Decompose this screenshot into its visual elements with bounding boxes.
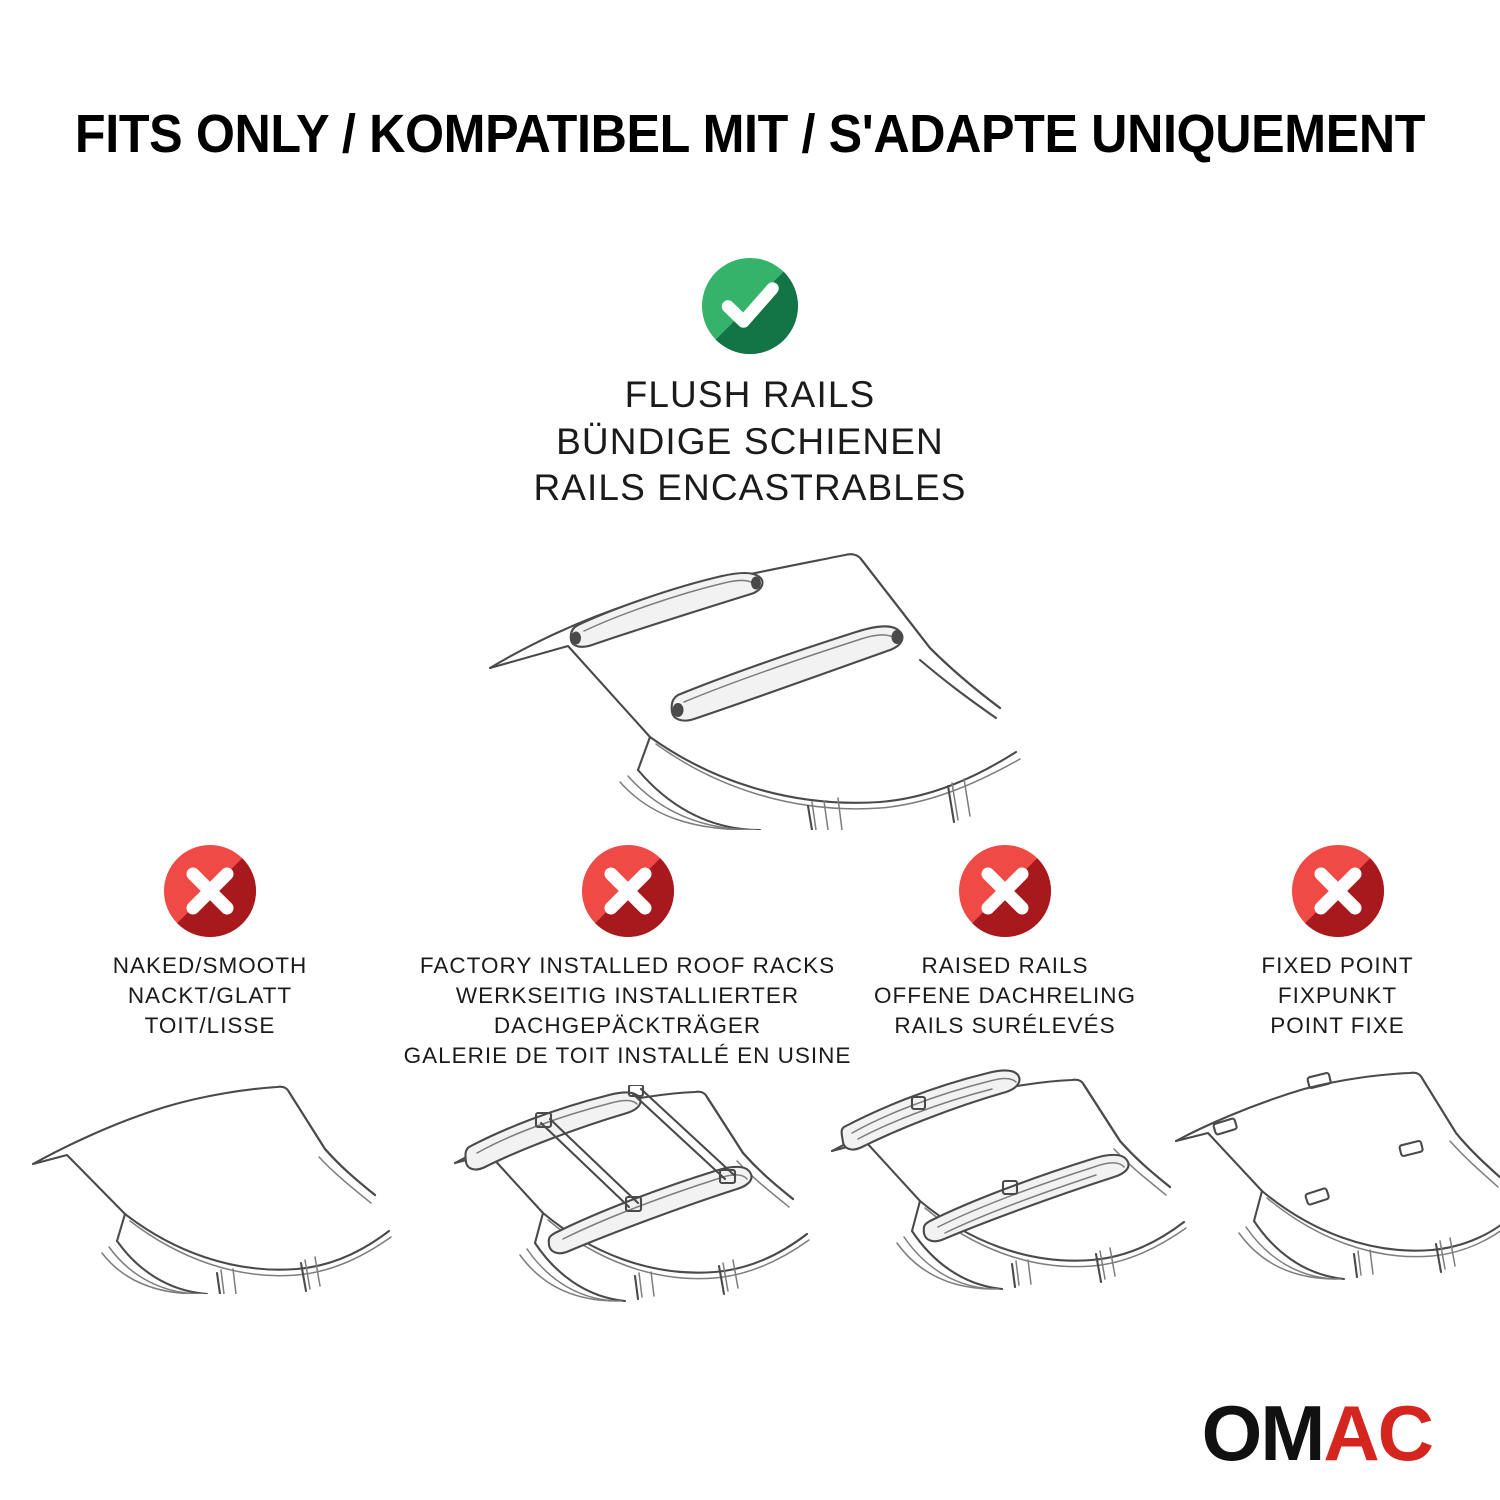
logo-text-dark: OM <box>1202 1394 1324 1472</box>
label-de: OFFENE DACHRELING <box>874 981 1136 1011</box>
label-de-line1: WERKSEITIG INSTALLIERTER <box>404 981 852 1011</box>
car-roof-flush-rails-illustration <box>460 530 1040 835</box>
exclusion-item-fixed-point: FIXED POINT FIXPUNKT POINT FIXE <box>1175 845 1500 1299</box>
cross-circle-icon <box>959 845 1051 937</box>
flush-rails-labels: FLUSH RAILS BÜNDIGE SCHIENEN RAILS ENCAS… <box>533 372 966 512</box>
exclusion-labels-fixed-point: FIXED POINT FIXPUNKT POINT FIXE <box>1261 951 1413 1041</box>
compatible-section: FLUSH RAILS BÜNDIGE SCHIENEN RAILS ENCAS… <box>0 258 1500 835</box>
logo-text-accent: AC <box>1323 1394 1432 1472</box>
label-fr: GALERIE DE TOIT INSTALLÉ EN USINE <box>404 1041 852 1071</box>
car-roof-raised-rails-illustration <box>820 1069 1190 1299</box>
cross-circle-icon <box>1292 845 1384 937</box>
label-de-line2: DACHGEPÄCKTRÄGER <box>404 1011 852 1041</box>
car-roof-fixed-point-illustration <box>1168 1069 1500 1299</box>
label-fr: RAILS SURÉLEVÉS <box>874 1011 1136 1041</box>
exclusion-item-factory-roof-racks: FACTORY INSTALLED ROOF RACKS WERKSEITIG … <box>420 845 835 1315</box>
exclusion-labels-raised-rails: RAISED RAILS OFFENE DACHRELING RAILS SUR… <box>874 951 1136 1041</box>
label-en: FACTORY INSTALLED ROOF RACKS <box>404 951 852 981</box>
car-roof-factory-racks-illustration <box>443 1085 813 1315</box>
label-fr: TOIT/LISSE <box>113 1011 308 1041</box>
flush-rails-label-fr: RAILS ENCASTRABLES <box>533 465 966 512</box>
exclusion-item-naked-smooth: NAKED/SMOOTH NACKT/GLATT TOIT/LISSE <box>0 845 420 1299</box>
label-de: NACKT/GLATT <box>113 981 308 1011</box>
check-circle-icon <box>702 258 798 354</box>
exclusion-labels-factory-roof-racks: FACTORY INSTALLED ROOF RACKS WERKSEITIG … <box>404 951 852 1071</box>
label-en: NAKED/SMOOTH <box>113 951 308 981</box>
flush-rails-label-en: FLUSH RAILS <box>533 372 966 419</box>
cross-circle-icon <box>164 845 256 937</box>
car-roof-naked-illustration <box>25 1069 395 1299</box>
omac-logo: OM AC <box>1202 1394 1432 1472</box>
cross-circle-icon <box>582 845 674 937</box>
label-de: FIXPUNKT <box>1261 981 1413 1011</box>
incompatible-section: NAKED/SMOOTH NACKT/GLATT TOIT/LISSE <box>0 845 1500 1315</box>
label-en: RAISED RAILS <box>874 951 1136 981</box>
label-en: FIXED POINT <box>1261 951 1413 981</box>
label-fr: POINT FIXE <box>1261 1011 1413 1041</box>
page-title: FITS ONLY / KOMPATIBEL MIT / S'ADAPTE UN… <box>53 103 1448 165</box>
exclusion-labels-naked-smooth: NAKED/SMOOTH NACKT/GLATT TOIT/LISSE <box>113 951 308 1041</box>
flush-rails-label-de: BÜNDIGE SCHIENEN <box>533 419 966 466</box>
exclusion-item-raised-rails: RAISED RAILS OFFENE DACHRELING RAILS SUR… <box>835 845 1175 1299</box>
